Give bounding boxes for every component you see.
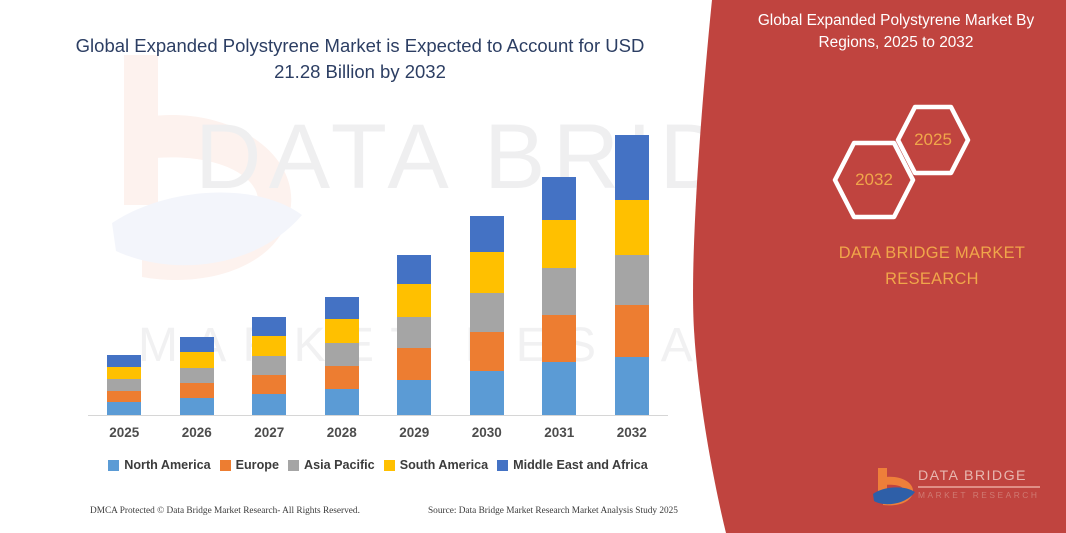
hexagon-end-year: 2032 bbox=[832, 140, 916, 220]
data-bridge-b-icon bbox=[872, 466, 916, 512]
hexagon-end-year-label: 2032 bbox=[855, 170, 893, 190]
brand-logo-subtitle: MARKET RESEARCH bbox=[918, 490, 1040, 500]
brand-logo-title: DATA BRIDGE bbox=[918, 468, 1040, 484]
hexagon-start-year-label: 2025 bbox=[914, 130, 952, 150]
infographic-root: DATA BRIDGE MARKET RESEARCH Global Expan… bbox=[0, 0, 1066, 533]
brand-logo-divider bbox=[918, 486, 1040, 488]
brand-logo-text: DATA BRIDGE MARKET RESEARCH bbox=[918, 468, 1040, 500]
right-panel-title: Global Expanded Polystyrene Market By Re… bbox=[736, 10, 1056, 54]
brand-name-text: DATA BRIDGE MARKET RESEARCH bbox=[790, 240, 1066, 292]
brand-logo: DATA BRIDGE MARKET RESEARCH bbox=[872, 466, 1062, 512]
